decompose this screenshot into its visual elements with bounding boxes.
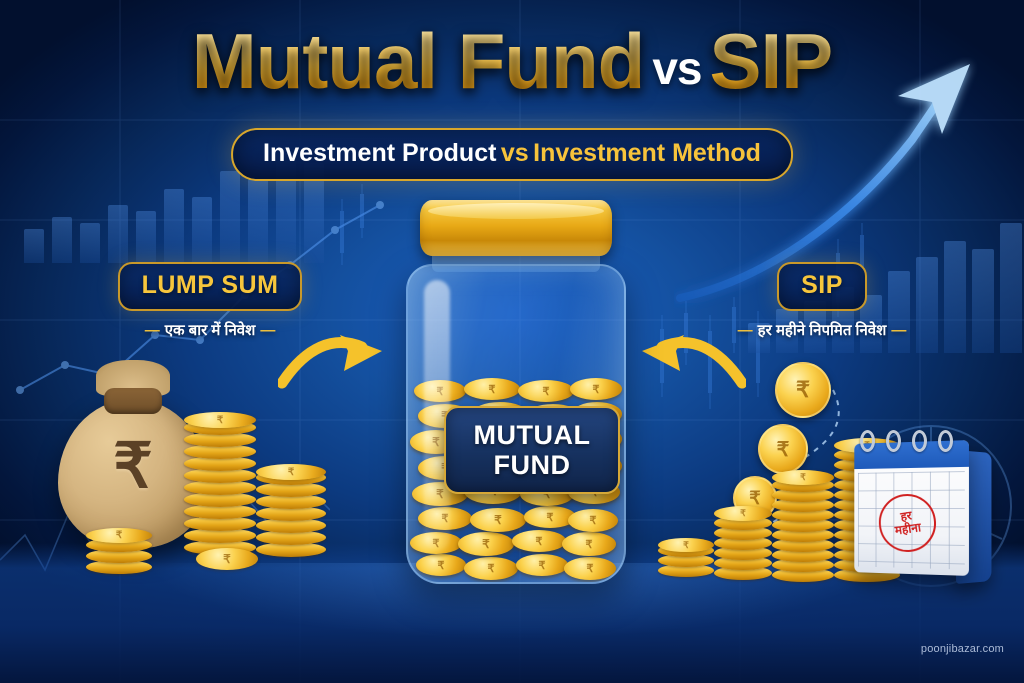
page-title: Mutual FundvsSIP <box>0 22 1024 100</box>
money-bag-tie <box>104 388 162 414</box>
jar-glass-body: MUTUAL FUND <box>406 264 626 584</box>
coin-stack-left-short: ₹ <box>86 528 152 576</box>
coin-stack-left-mid: ₹ <box>256 464 326 556</box>
watermark: poonjibazar.com <box>921 643 1004 655</box>
dash-right-end: — <box>886 322 911 339</box>
lump-sum-badge-label: LUMP SUM <box>142 271 279 299</box>
calendar-stamp-line2: महीना <box>894 521 922 537</box>
coin-stack-right-2: ₹ <box>714 506 772 582</box>
calendar-spiral-binding <box>858 430 970 452</box>
coin-stack-right-1: ₹ <box>658 538 714 580</box>
infographic-canvas: Mutual FundvsSIP Investment Product vs I… <box>0 0 1024 683</box>
subtitle-investment-method: Investment Method <box>533 139 761 167</box>
title-vs: vs <box>644 42 709 94</box>
coin-stack-left-tall: ₹ <box>184 412 256 552</box>
mutual-fund-jar: MUTUAL FUND <box>392 200 640 600</box>
jar-lid <box>420 200 612 256</box>
dash-left-start: — <box>140 322 165 339</box>
jar-label-line1: MUTUAL <box>474 421 591 449</box>
title-mutual-fund: Mutual Fund <box>192 17 645 105</box>
coin-single-left: ₹ <box>196 548 258 570</box>
subtitle-badge: Investment Product vs Investment Method <box>231 128 793 181</box>
sip-badge-label: SIP <box>801 271 843 299</box>
coin-stack-right-3: ₹ <box>772 470 834 582</box>
calendar-page: हर महीना <box>854 440 969 576</box>
title-sip: SIP <box>709 17 832 105</box>
jar-label-line2: FUND <box>494 451 571 479</box>
subtitle-investment-product: Investment Product <box>263 139 496 167</box>
falling-coin-1: ₹ <box>775 362 831 418</box>
subtitle-vs: vs <box>501 139 529 167</box>
sip-badge: SIP <box>777 262 867 311</box>
lump-sum-badge: LUMP SUM <box>118 262 303 311</box>
arrow-left-icon <box>636 325 746 395</box>
lump-sum-hindi-text: एक बार में निवेश <box>165 322 256 339</box>
falling-coin-2: ₹ <box>758 424 808 474</box>
monthly-calendar: हर महीना <box>852 424 1000 586</box>
sip-hindi-text: हर महीने निपमित निवेश <box>758 322 887 339</box>
arrow-right-icon <box>278 325 388 395</box>
dash-left-end: — <box>255 322 280 339</box>
jar-label: MUTUAL FUND <box>444 406 620 494</box>
